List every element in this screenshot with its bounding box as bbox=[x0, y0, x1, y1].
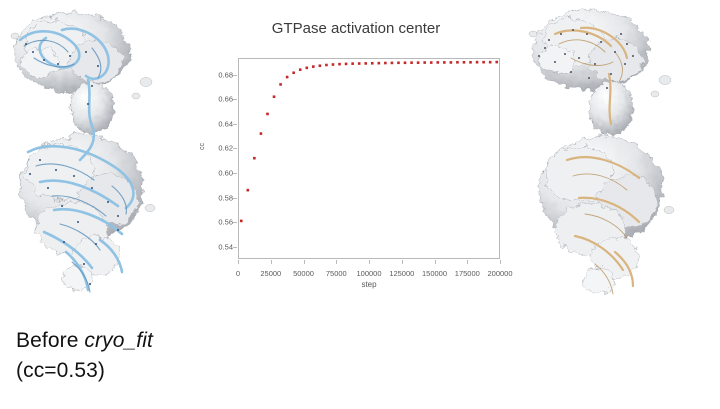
data-point bbox=[305, 67, 308, 70]
data-point bbox=[253, 157, 256, 160]
y-tick-mark bbox=[233, 148, 237, 149]
x-tick-mark bbox=[238, 260, 239, 264]
y-tick-label: 0.60 bbox=[218, 168, 233, 177]
x-tick-mark bbox=[467, 260, 468, 264]
after-structure-panel: After cryo_fit (cc=0.69) bbox=[515, 0, 715, 320]
data-point bbox=[345, 63, 348, 66]
y-tick-label: 0.68 bbox=[218, 70, 233, 79]
data-point bbox=[286, 76, 289, 79]
data-point bbox=[404, 61, 407, 64]
data-point bbox=[384, 62, 387, 65]
data-point bbox=[430, 61, 433, 64]
x-tick-mark bbox=[435, 260, 436, 264]
before-caption-italic: cryo_fit bbox=[84, 329, 153, 352]
x-tick-label: 100000 bbox=[356, 269, 381, 278]
y-tick-mark bbox=[233, 222, 237, 223]
y-tick-mark bbox=[233, 173, 237, 174]
data-point bbox=[292, 71, 295, 74]
density-map-render-after bbox=[515, 0, 715, 320]
data-point bbox=[489, 61, 492, 64]
data-point bbox=[358, 62, 361, 65]
x-tick-label: 75000 bbox=[326, 269, 347, 278]
data-point bbox=[463, 61, 466, 64]
y-tick-mark bbox=[233, 198, 237, 199]
x-tick-mark bbox=[369, 260, 370, 264]
data-point bbox=[436, 61, 439, 64]
x-tick-label: 25000 bbox=[260, 269, 281, 278]
before-caption-cc: (cc=0.53) bbox=[16, 356, 153, 386]
data-point bbox=[266, 113, 269, 116]
y-tick-mark bbox=[233, 247, 237, 248]
before-caption: Before cryo_fit (cc=0.53) bbox=[16, 326, 153, 386]
data-point bbox=[325, 64, 328, 67]
x-axis-ticks: 0250005000075000100000125000150000175000… bbox=[238, 264, 500, 276]
y-tick-mark bbox=[233, 75, 237, 76]
before-structure-panel: Before cryo_fit (cc=0.53) bbox=[0, 0, 200, 320]
cryo-em-map-before bbox=[0, 0, 200, 320]
data-point bbox=[364, 62, 367, 65]
chart-title: GTPase activation center bbox=[196, 20, 516, 37]
data-point bbox=[299, 68, 302, 71]
cc-vs-step-chart: GTPase activation center 0.540.560.580.6… bbox=[196, 8, 516, 308]
data-point bbox=[319, 64, 322, 67]
x-tick-mark bbox=[336, 260, 337, 264]
x-tick-mark bbox=[500, 260, 501, 264]
y-tick-label: 0.58 bbox=[218, 193, 233, 202]
data-point-group bbox=[240, 61, 498, 222]
data-point bbox=[338, 63, 341, 66]
data-point bbox=[495, 61, 498, 64]
data-point bbox=[391, 62, 394, 65]
x-tick-label: 50000 bbox=[293, 269, 314, 278]
data-point bbox=[476, 61, 479, 64]
data-point bbox=[456, 61, 459, 64]
y-tick-label: 0.66 bbox=[218, 95, 233, 104]
data-point bbox=[443, 61, 446, 64]
before-caption-prefix: Before bbox=[16, 329, 84, 352]
x-tick-label: 0 bbox=[236, 269, 240, 278]
data-point bbox=[273, 95, 276, 98]
data-point bbox=[371, 62, 374, 65]
cryo-em-map-after bbox=[515, 0, 715, 320]
y-tick-mark bbox=[233, 124, 237, 125]
data-point bbox=[450, 61, 453, 64]
data-point bbox=[247, 189, 250, 192]
density-lobe-top bbox=[14, 12, 130, 92]
data-point bbox=[312, 65, 315, 68]
y-axis-label: cc bbox=[199, 143, 206, 150]
x-tick-mark bbox=[402, 260, 403, 264]
density-lobe-top bbox=[533, 10, 649, 90]
x-tick-mark bbox=[304, 260, 305, 264]
y-tick-label: 0.62 bbox=[218, 144, 233, 153]
x-tick-label: 150000 bbox=[422, 269, 447, 278]
y-tick-label: 0.54 bbox=[218, 242, 233, 251]
density-map-render-before bbox=[0, 0, 200, 320]
data-point bbox=[410, 61, 413, 64]
data-point bbox=[423, 61, 426, 64]
data-point bbox=[417, 61, 420, 64]
data-point bbox=[279, 83, 282, 86]
y-tick-mark bbox=[233, 99, 237, 100]
data-point bbox=[240, 220, 243, 223]
data-point bbox=[351, 62, 354, 65]
x-tick-label: 175000 bbox=[455, 269, 480, 278]
x-axis-label: step bbox=[238, 280, 500, 289]
y-tick-label: 0.64 bbox=[218, 119, 233, 128]
data-point bbox=[469, 61, 472, 64]
y-tick-label: 0.56 bbox=[218, 218, 233, 227]
y-axis-ticks: 0.540.560.580.600.620.640.660.68 bbox=[196, 58, 233, 259]
x-tick-label: 125000 bbox=[389, 269, 414, 278]
x-tick-label: 200000 bbox=[487, 269, 512, 278]
x-tick-mark bbox=[271, 260, 272, 264]
data-point bbox=[482, 61, 485, 64]
data-point bbox=[397, 61, 400, 64]
scatter-points-layer bbox=[238, 58, 500, 259]
data-point bbox=[378, 62, 381, 65]
data-point bbox=[260, 132, 263, 135]
data-point bbox=[332, 63, 335, 66]
